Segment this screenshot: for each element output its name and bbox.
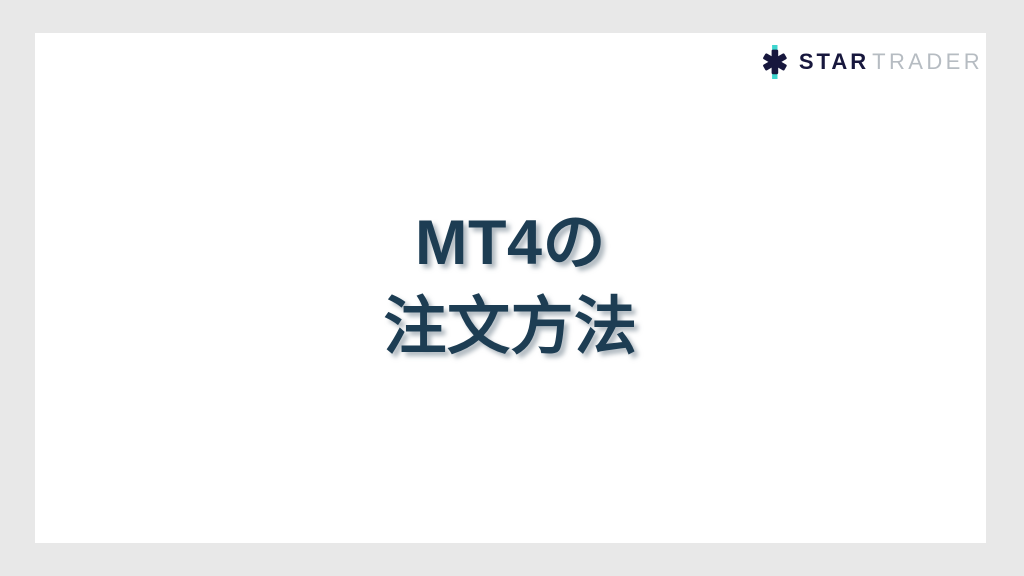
title-line-2: 注文方法: [35, 285, 986, 369]
star-trader-logo: STAR TRADER: [760, 43, 983, 81]
logo-wordmark: STAR TRADER: [799, 51, 983, 73]
slide-title: MT4の 注文方法: [35, 201, 986, 369]
title-line-1: MT4の: [35, 201, 986, 285]
logo-word-star: STAR: [799, 51, 869, 73]
slide-canvas: STAR TRADER MT4の 注文方法: [35, 33, 986, 543]
star-asterisk-icon: [760, 45, 790, 79]
logo-word-trader: TRADER: [872, 51, 983, 73]
